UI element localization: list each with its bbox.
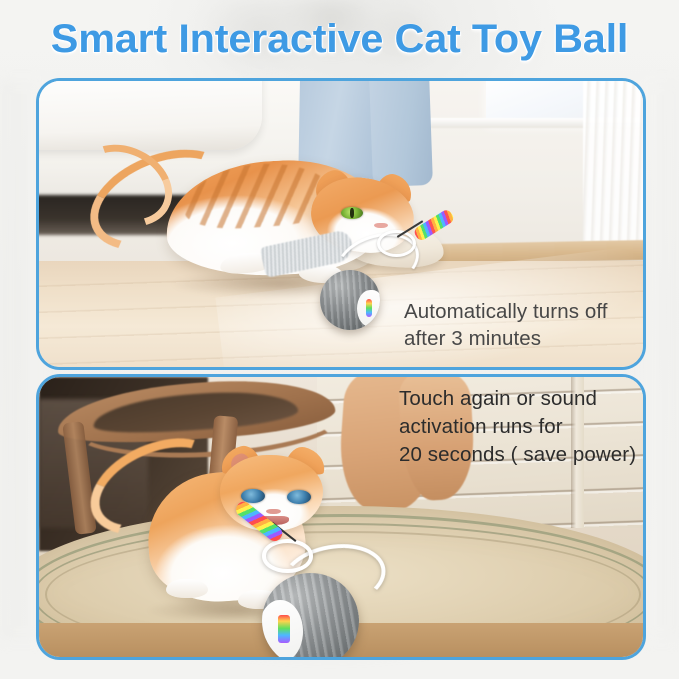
product-infographic: Smart Interactive Cat Toy Ball <box>0 0 679 679</box>
curtain <box>583 81 643 241</box>
background-blur-right <box>645 80 679 640</box>
page-title: Smart Interactive Cat Toy Ball <box>0 17 679 61</box>
person-jeans-right <box>369 81 433 188</box>
toy-wire-ring <box>262 539 312 572</box>
ball-led-stripe <box>278 615 290 644</box>
kitten-paw-left <box>166 579 208 599</box>
caption-auto-shutoff: Automatically turns off after 3 minutes <box>404 298 608 352</box>
kitten-nose <box>266 509 280 515</box>
ball-led-stripe <box>366 299 371 317</box>
caption-touch-sound-activation: Touch again or sound activation runs for… <box>399 385 636 469</box>
sofa-cushion <box>39 81 262 150</box>
kitten-eye-right <box>287 490 311 504</box>
cat-nose <box>374 223 387 229</box>
